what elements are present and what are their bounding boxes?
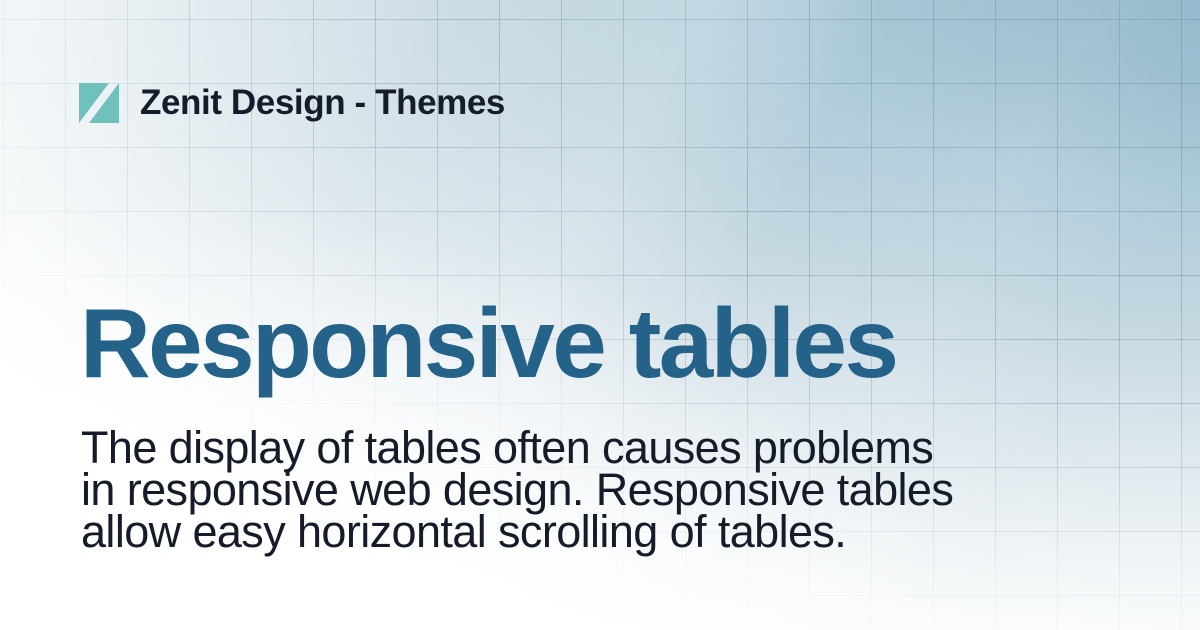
summary-line-2: in responsive web design. Responsive tab… bbox=[81, 469, 953, 511]
summary-line-3: allow easy horizontal scrolling of table… bbox=[81, 511, 953, 553]
brand-name-text: Zenit Design - Themes bbox=[140, 83, 505, 123]
summary-line-1: The display of tables often causes probl… bbox=[81, 427, 953, 469]
card-content: Zenit Design - Themes Responsive tables … bbox=[0, 0, 1200, 630]
brand-lockup: Zenit Design - Themes bbox=[76, 80, 505, 126]
social-share-card: Zenit Design - Themes Responsive tables … bbox=[0, 0, 1200, 630]
zenit-z-mark-icon bbox=[76, 80, 122, 126]
page-title: Responsive tables bbox=[80, 294, 896, 392]
summary-text: The display of tables often causes probl… bbox=[81, 427, 953, 553]
